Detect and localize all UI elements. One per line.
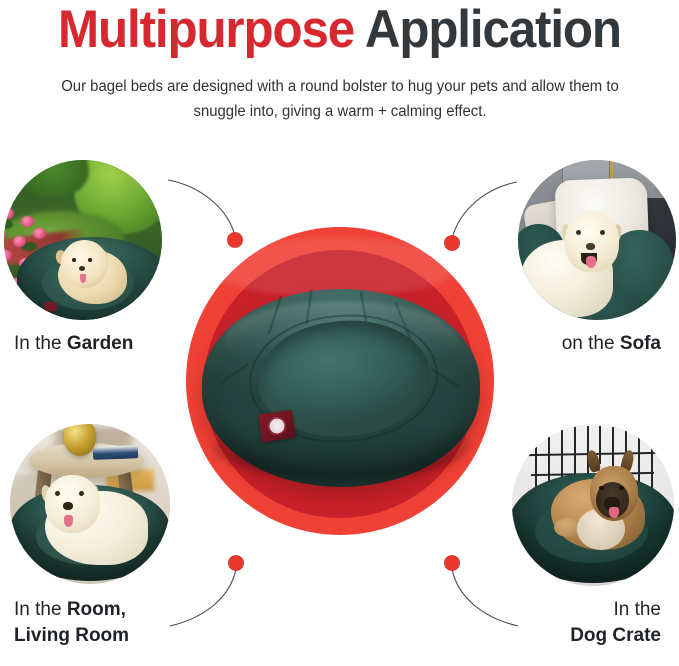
crate-dog-tongue [609,507,619,518]
caption-crate-line-2: Dog Crate [570,623,661,649]
caption-on-the-sofa: on the Sofa [562,331,661,357]
center-product-medallion [186,227,494,535]
room-dog-nose [63,502,73,510]
caption-room-line-2: Living Room [14,623,129,649]
connector-dot-crate [445,556,460,571]
caption-sofa-bold: Sofa [620,333,661,354]
caption-garden-light: In the [14,333,62,354]
caption-crate-line-1: In the [570,597,661,623]
caption-room-line-1: In the Room, [14,597,129,623]
majestic-pet-brand-tag [258,409,296,442]
photo-in-the-dog-crate [512,424,674,586]
caption-in-the-living-room: In the Room, Living Room [14,597,129,649]
garden-puppy-tongue [80,274,86,283]
garden-bed-brand-tag [44,302,57,311]
room-dog-eye [79,491,84,496]
crate-bar [612,427,614,469]
caption-room-light: In the [14,599,62,620]
garden-puppy-eye [88,258,92,262]
connector-line-room [170,569,236,626]
caption-in-the-dog-crate: In the Dog Crate [570,597,661,649]
connector-line-crate [452,569,518,626]
garden-puppy-eye [72,258,76,262]
caption-sofa-light: on the [562,333,615,354]
caption-room-bold: Room, [67,599,126,620]
photo-on-the-sofa [518,160,676,320]
caption-crate-light: In the [613,599,661,620]
room-books [93,446,138,460]
photo-in-the-garden [4,160,162,320]
caption-in-the-garden: In the Garden [14,331,133,357]
medallion-gloss-highlight [208,237,458,297]
room-dog-eye [55,491,60,496]
caption-garden-bold: Garden [67,333,134,354]
crate-bar [599,426,601,465]
sofa-dog-nose [586,243,595,250]
crate-dog-eye [619,486,624,490]
bagel-pet-bed [202,289,480,487]
garden-puppy-nose [79,266,85,271]
caption-room-bold-2: Living Room [14,625,129,646]
sofa-dog-tongue [586,256,596,268]
brand-emblem-icon [267,415,288,436]
photo-in-the-living-room [10,424,170,584]
caption-crate-bold-2: Dog Crate [570,625,661,646]
connector-dot-room [229,556,244,571]
